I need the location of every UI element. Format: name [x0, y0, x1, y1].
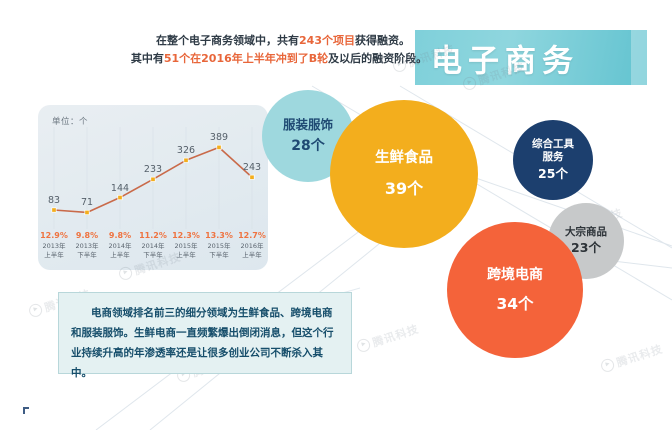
header-line2-mid: 在2016年上半年冲到了	[190, 52, 309, 65]
bubble-value: 28个	[291, 138, 324, 155]
chart-x-axis-label: 2013年上半年	[42, 242, 65, 259]
bubble-label-line2: 服务	[543, 151, 564, 163]
chart-percent-label: 9.8%	[109, 231, 131, 240]
chart-value-label: 83	[48, 195, 60, 206]
title-banner: 电子商务	[415, 30, 647, 85]
summary-box: 电商领域排名前三的细分领域为生鲜食品、跨境电商和服装服饰。生鲜电商一直频繁爆出倒…	[58, 292, 352, 374]
chart-percent-label: 12.3%	[172, 231, 200, 240]
page-title: 电子商务	[431, 35, 579, 80]
header-line2-highlight: 51个	[164, 52, 190, 65]
chart-x-axis-label: 2014年上半年	[108, 242, 131, 259]
chart-value-label: 243	[243, 162, 261, 173]
chart-percent-label: 12.7%	[238, 231, 266, 240]
chart-value-label: 233	[144, 164, 162, 175]
bubble-value: 39个	[385, 180, 423, 199]
infographic-canvas: 在整个电子商务领域中，共有243个项目获得融资。 其中有51个在2016年上半年…	[0, 0, 672, 430]
chart-percent-label: 11.2%	[139, 231, 167, 240]
header-line1-highlight: 243个项目	[299, 34, 355, 47]
chart-x-axis-label: 2016年上半年	[240, 242, 263, 259]
bubble-zonghe-gongju-fuwu[interactable]: 综合工具 服务 25个	[513, 120, 593, 200]
header-description: 在整个电子商务领域中，共有243个项目获得融资。 其中有51个在2016年上半年…	[118, 32, 448, 68]
chart-x-axis-label: 2015年下半年	[207, 242, 230, 259]
chart-value-label: 326	[177, 145, 195, 156]
header-line2-post: 及以后的融资阶段。	[328, 52, 427, 65]
bubble-label: 大宗商品	[565, 226, 607, 238]
chart-value-label: 71	[81, 197, 93, 208]
chart-x-axis-label: 2013年下半年	[75, 242, 98, 259]
header-line1-post: 获得融资。	[355, 34, 410, 47]
banner-end-cap	[631, 30, 647, 85]
header-line2-highlight-2: B轮	[309, 52, 328, 65]
header-line2-pre: 其中有	[131, 52, 164, 65]
chart-percent-label: 13.3%	[205, 231, 233, 240]
chart-x-axis-label: 2015年上半年	[174, 242, 197, 259]
bubble-label: 服装服饰	[283, 118, 333, 133]
watermark: 腾讯科技	[355, 321, 421, 356]
bubble-label: 跨境电商	[487, 267, 543, 284]
chart-value-label: 389	[210, 132, 228, 143]
bubble-kuajing-dianshang[interactable]: 跨境电商 34个	[447, 222, 583, 358]
chart-percent-label: 12.9%	[40, 231, 68, 240]
bubble-value: 23个	[571, 241, 601, 256]
watermark: 腾讯科技	[599, 341, 665, 376]
line-chart-panel: 单位：个 8312.9%2013年上半年719.8%2013年下半年1449.8…	[38, 105, 268, 270]
bubble-shengxian-shipin[interactable]: 生鲜食品 39个	[330, 100, 478, 248]
bubble-value: 34个	[496, 295, 533, 313]
chart-percent-label: 9.8%	[76, 231, 98, 240]
corner-mark-icon	[22, 406, 30, 415]
header-line1-pre: 在整个电子商务领域中，共有	[156, 34, 299, 47]
header-line-1: 在整个电子商务领域中，共有243个项目获得融资。	[118, 32, 448, 50]
bubble-value: 25个	[538, 167, 568, 182]
bubble-label: 综合工具	[532, 138, 574, 150]
chart-value-label: 144	[111, 183, 129, 194]
bubble-label: 生鲜食品	[375, 150, 433, 167]
header-line-2: 其中有51个在2016年上半年冲到了B轮及以后的融资阶段。	[110, 50, 448, 68]
chart-x-axis-label: 2014年下半年	[141, 242, 164, 259]
